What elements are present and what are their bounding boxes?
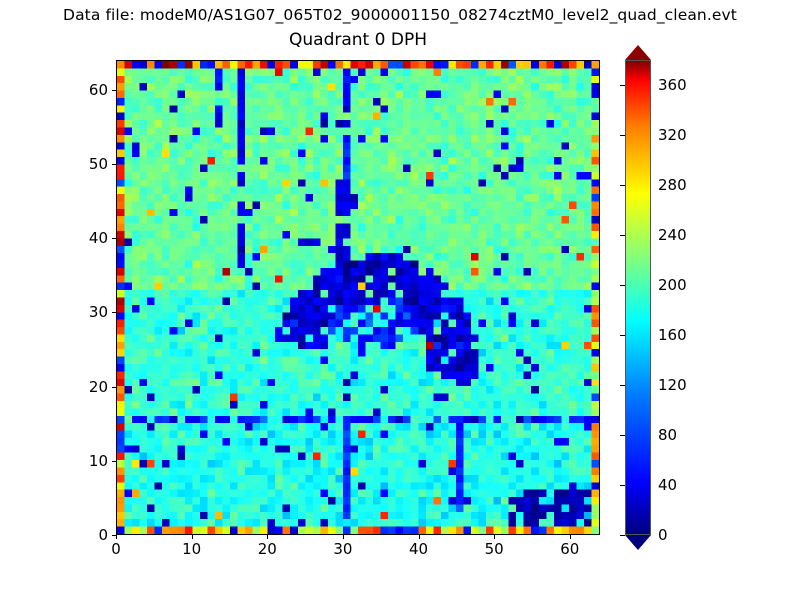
data-file-suptitle: Data file: modeM0/AS1G07_065T02_90000011… [0,6,800,24]
x-tick-label: 30 [333,540,352,558]
y-tick-label: 20 [70,378,108,396]
colorbar-tick-label: 320 [658,126,687,144]
colorbar-tick-mark [620,485,625,486]
colorbar-tick-label: 120 [658,376,687,394]
x-tick-label: 10 [182,540,201,558]
y-tick-mark [112,387,116,388]
heatmap-axes[interactable] [116,60,600,535]
x-tick-mark [343,535,344,539]
colorbar-tick-label: 80 [658,426,677,444]
y-tick-label: 30 [70,303,108,321]
y-tick-label: 60 [70,81,108,99]
y-tick-mark [112,312,116,313]
y-tick-label: 10 [70,452,108,470]
colorbar-tick-mark [620,85,625,86]
colorbar-tick-mark [620,335,625,336]
figure-canvas: Data file: modeM0/AS1G07_065T02_90000011… [0,0,800,600]
colorbar-tick-mark [620,135,625,136]
detector-heatmap-image[interactable] [117,61,599,534]
colorbar-tick-mark [620,285,625,286]
x-tick-label: 60 [560,540,579,558]
x-tick-label: 40 [409,540,428,558]
colorbar-tick-label: 280 [658,176,687,194]
colorbar-gradient[interactable] [625,60,651,535]
colorbar-tick-label: 240 [658,226,687,244]
colorbar-under-arrow [625,535,651,550]
y-tick-label: 50 [70,155,108,173]
x-tick-mark [267,535,268,539]
colorbar-tick-mark [620,535,625,536]
colorbar-tick-label: 0 [658,526,668,544]
y-tick-mark [112,535,116,536]
x-tick-mark [570,535,571,539]
colorbar-over-arrow [625,45,651,60]
colorbar-tick-mark [620,235,625,236]
colorbar-tick-label: 160 [658,326,687,344]
x-tick-label: 50 [485,540,504,558]
colorbar[interactable]: 04080120160200240280320360 [625,60,651,535]
colorbar-tick-label: 40 [658,476,677,494]
x-tick-label: 20 [258,540,277,558]
x-tick-label: 0 [111,540,121,558]
y-tick-mark [112,90,116,91]
colorbar-tick-label: 200 [658,276,687,294]
x-tick-mark [419,535,420,539]
colorbar-tick-mark [620,185,625,186]
x-tick-mark [192,535,193,539]
colorbar-tick-mark [620,435,625,436]
y-tick-label: 40 [70,229,108,247]
y-tick-mark [112,238,116,239]
x-tick-mark [494,535,495,539]
colorbar-tick-label: 360 [658,76,687,94]
y-tick-mark [112,461,116,462]
x-tick-mark [116,535,117,539]
y-tick-label: 0 [70,526,108,544]
plot-title: Quadrant 0 DPH [116,30,600,50]
y-tick-mark [112,164,116,165]
colorbar-tick-mark [620,385,625,386]
